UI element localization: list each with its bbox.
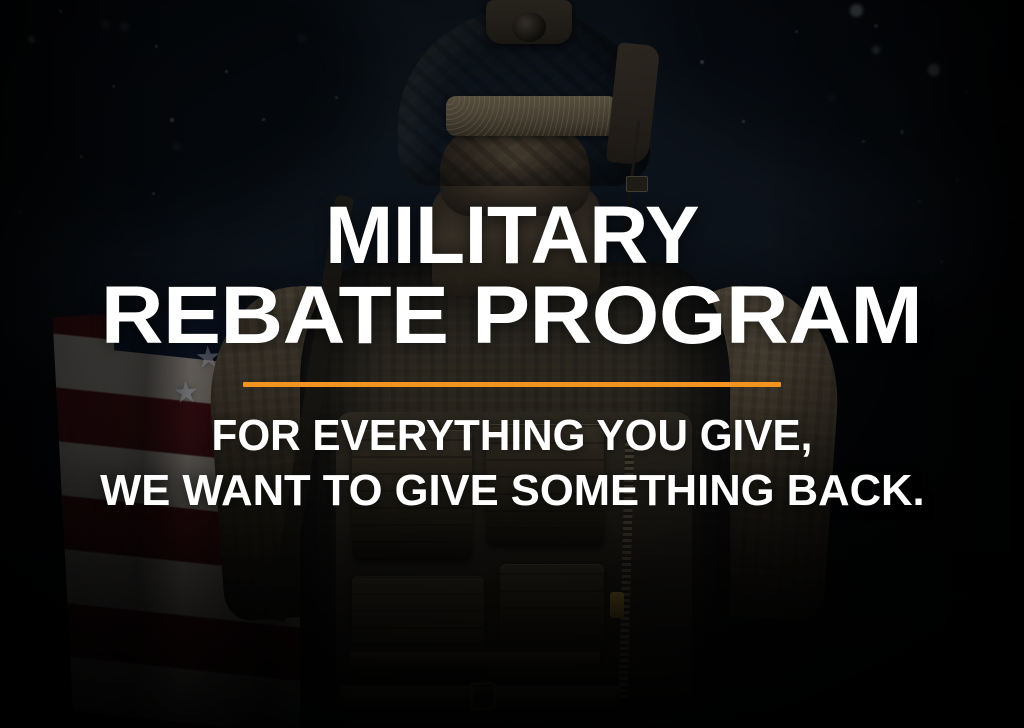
military-rebate-banner: ★★★★★★★ xyxy=(0,0,1024,728)
orange-divider xyxy=(243,382,781,387)
headline-line-1: MILITARY xyxy=(325,198,699,274)
subhead-line-1: FOR EVERYTHING YOU GIVE, xyxy=(212,412,813,460)
subhead-line-2: WE WANT TO GIVE SOMETHING BACK. xyxy=(100,467,924,515)
headline-line-2: REBATE PROGRAM xyxy=(101,278,923,354)
banner-content: MILITARY REBATE PROGRAM FOR EVERYTHING Y… xyxy=(0,0,1024,728)
